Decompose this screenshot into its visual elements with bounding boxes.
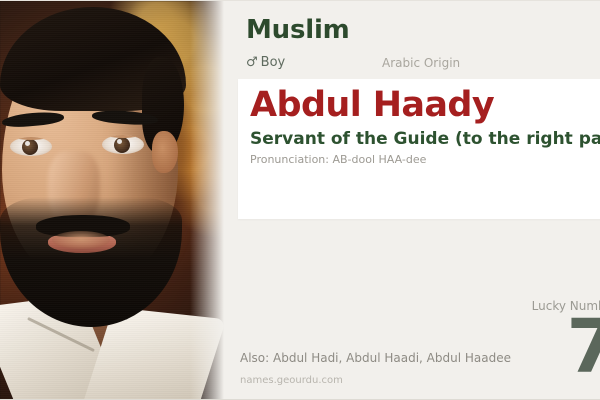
- meta-row: ♂Boy Arabic Origin: [246, 55, 586, 73]
- portrait-photo: [0, 1, 224, 400]
- name-title: Abdul Haady: [250, 85, 494, 125]
- lucky-number-block: Lucky Number 7: [418, 299, 600, 378]
- chin-highlight: [52, 231, 110, 249]
- photo-edge-fade: [190, 1, 224, 400]
- source-website: names.geourdu.com: [240, 375, 343, 386]
- iris-left: [22, 139, 38, 155]
- gender-text: Boy: [261, 55, 286, 70]
- name-detail-card: Abdul Haady Servant of the Guide (to the…: [238, 79, 600, 219]
- eye-left: [10, 137, 52, 156]
- eye-right: [102, 135, 144, 154]
- name-pronunciation: Pronunciation: AB-dool HAA-dee: [250, 153, 426, 166]
- name-meaning: Servant of the Guide (to the right path): [250, 129, 600, 149]
- religion-heading: Muslim: [246, 15, 350, 45]
- info-panel: Muslim ♂Boy Arabic Origin Abdul Haady Se…: [238, 1, 600, 400]
- ear-shape: [152, 131, 178, 173]
- lucky-number-value: 7: [418, 317, 600, 378]
- iris-right: [114, 137, 130, 153]
- alternate-spellings: Also: Abdul Hadi, Abdul Haadi, Abdul Haa…: [240, 351, 511, 365]
- male-symbol-icon: ♂: [246, 55, 258, 70]
- origin-label: Arabic Origin: [382, 56, 460, 70]
- gender-label: ♂Boy: [246, 55, 285, 70]
- name-info-card: Muslim ♂Boy Arabic Origin Abdul Haady Se…: [0, 0, 600, 400]
